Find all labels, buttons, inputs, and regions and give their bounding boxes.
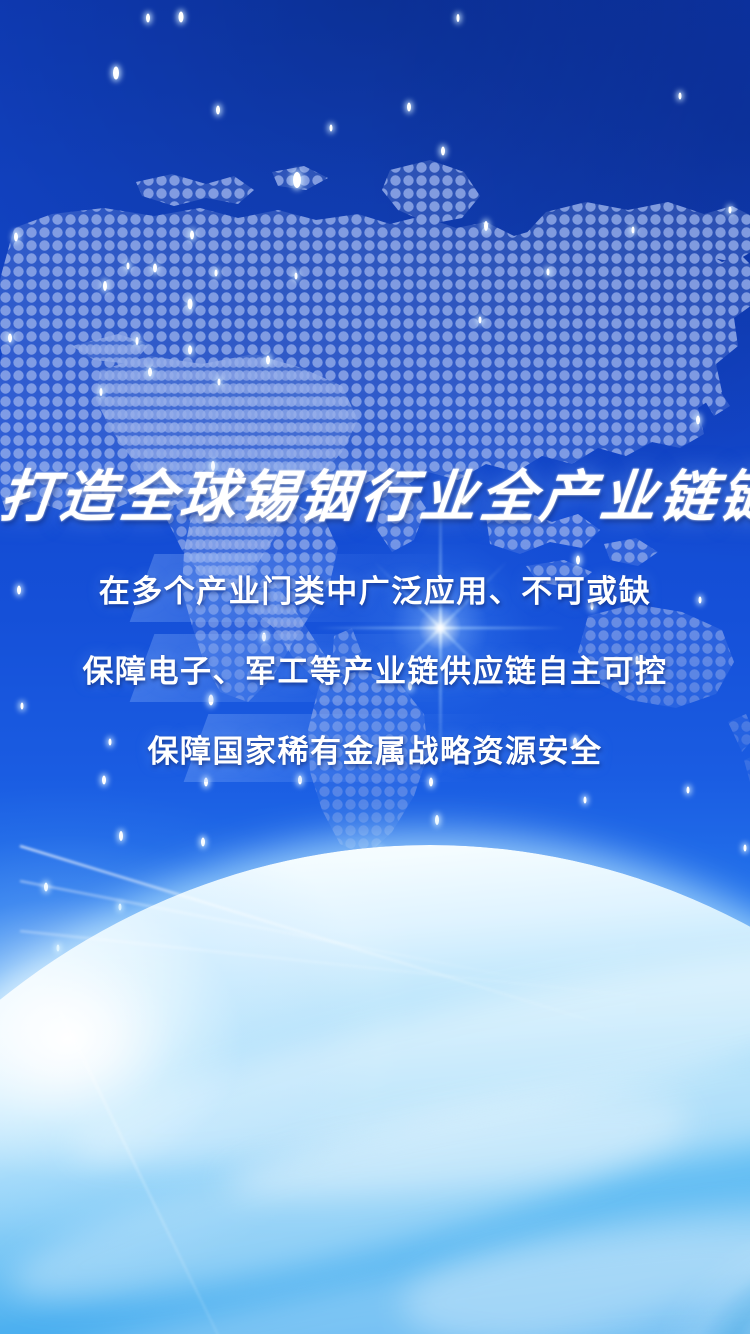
poster-subtitle-list: 在多个产业门类中广泛应用、不可或缺 保障电子、军工等产业链供应链自主可控 保障国… [0,548,750,788]
subtitle-row: 保障电子、军工等产业链供应链自主可控 [0,628,750,708]
poster-canvas: 打造全球锡铟行业全产业链链主 在多个产业门类中广泛应用、不可或缺 保障电子、军工… [0,0,750,1334]
subtitle-row: 保障国家稀有金属战略资源安全 [0,708,750,788]
subtitle-line-3: 保障国家稀有金属战略资源安全 [148,726,603,771]
subtitle-line-2: 保障电子、军工等产业链供应链自主可控 [83,646,668,691]
subtitle-line-1: 在多个产业门类中广泛应用、不可或缺 [99,566,652,611]
poster-title: 打造全球锡铟行业全产业链链主 [0,456,750,540]
subtitle-row: 在多个产业门类中广泛应用、不可或缺 [0,548,750,628]
